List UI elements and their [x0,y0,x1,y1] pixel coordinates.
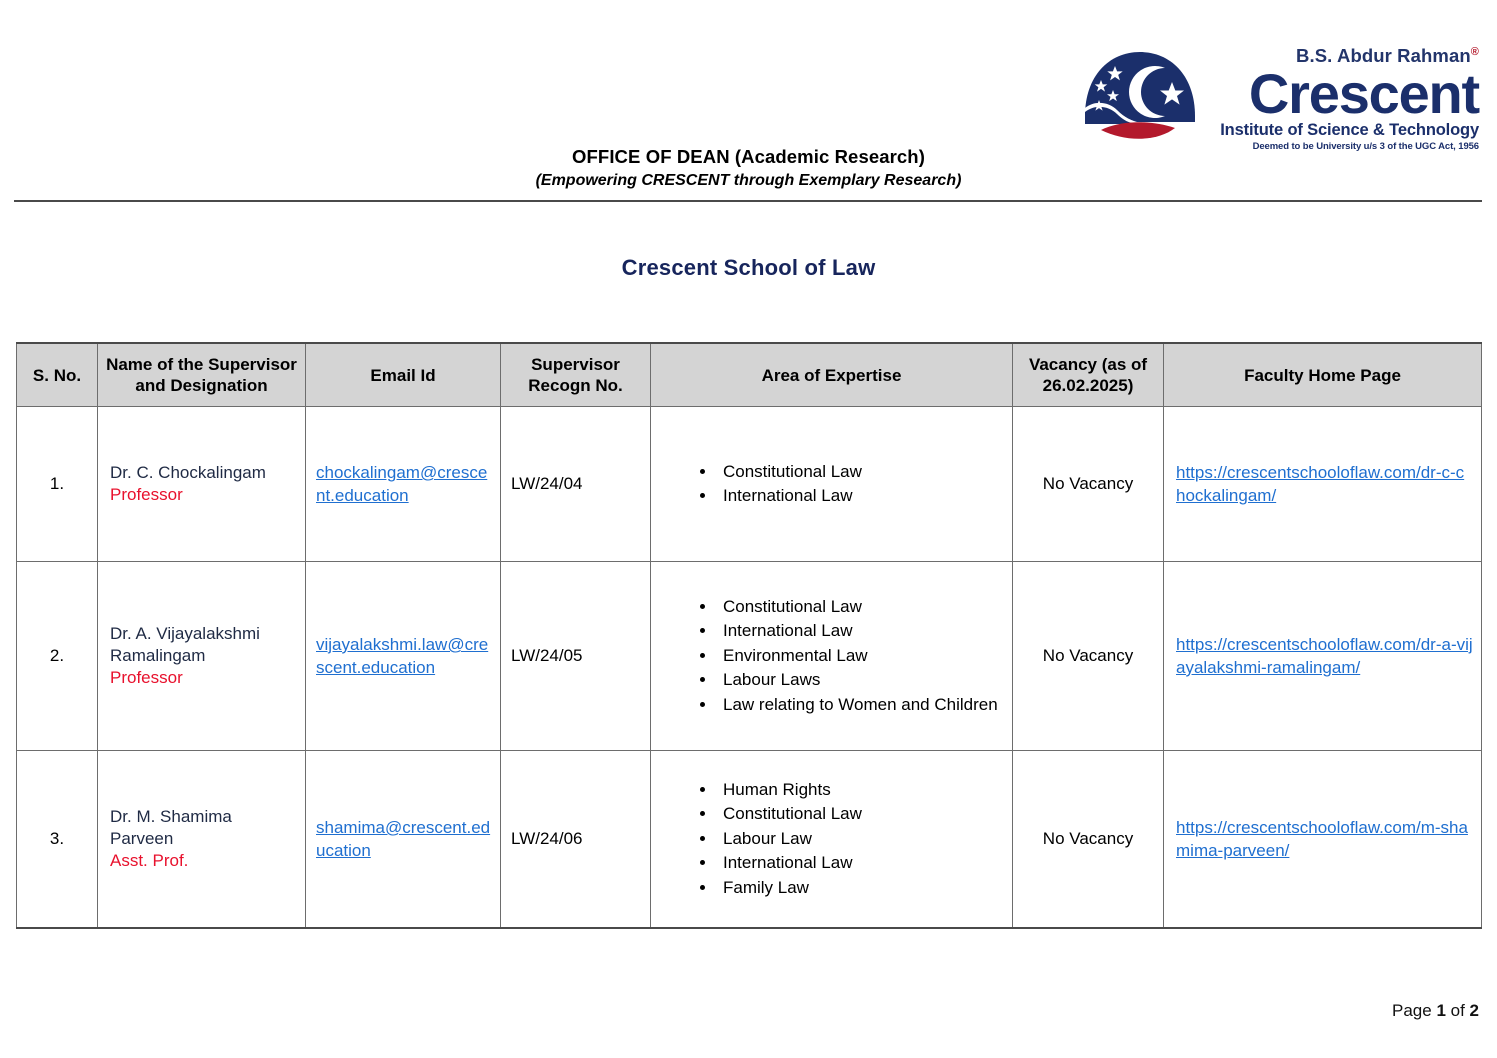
expertise-item: Labour Law [717,827,1004,852]
logo-wordmark: Crescent [1203,68,1479,120]
expertise-item: International Law [717,619,1004,644]
letterhead: B.S. Abdur Rahman® Crescent Institute of… [0,0,1497,208]
expertise-list: Constitutional Law International Law Env… [669,595,1004,718]
row-vacancy-status: No Vacancy [1013,751,1164,929]
crescent-moon-stars-emblem-icon [1079,46,1201,144]
column-header-email: Email Id [306,343,501,407]
logo-brand-top-text: B.S. Abdur Rahman [1296,45,1471,66]
row-serial-number: 2. [17,562,98,751]
office-title: OFFICE OF DEAN (Academic Research) [0,146,1497,168]
row-expertise-cell: Constitutional Law International Law [651,407,1013,562]
logo-brand-top: B.S. Abdur Rahman® [1203,42,1479,66]
row-expertise-cell: Constitutional Law International Law Env… [651,562,1013,751]
registered-mark-icon: ® [1471,46,1479,58]
row-supervisor-name: Dr. M. Shamima Parveen Asst. Prof. [98,751,306,929]
faculty-homepage-link[interactable]: https://crescentschooloflaw.com/m-shamim… [1176,818,1468,860]
expertise-item: International Law [717,484,1004,509]
row-recognition-number: LW/24/05 [501,562,651,751]
faculty-homepage-link[interactable]: https://crescentschooloflaw.com/dr-a-vij… [1176,635,1473,677]
row-homepage-cell: https://crescentschooloflaw.com/m-shamim… [1164,751,1482,929]
table-row: 1. Dr. C. Chockalingam Professor chockal… [17,407,1482,562]
row-supervisor-name: Dr. A. Vijayalakshmi Ramalingam Professo… [98,562,306,751]
footer-total-pages: 2 [1470,1001,1479,1020]
row-vacancy-status: No Vacancy [1013,407,1164,562]
expertise-item: Environmental Law [717,644,1004,669]
supervisor-designation: Asst. Prof. [110,850,297,872]
office-tagline: (Empowering CRESCENT through Exemplary R… [0,172,1497,190]
row-recognition-number: LW/24/04 [501,407,651,562]
logo-wordmark-block: B.S. Abdur Rahman® Crescent Institute of… [1203,42,1479,148]
table-header-row: S. No. Name of the Supervisor and Design… [17,343,1482,407]
column-header-sno: S. No. [17,343,98,407]
email-link[interactable]: vijayalakshmi.law@crescent.education [316,635,488,677]
supervisor-name-text: Dr. M. Shamima Parveen [110,807,232,848]
expertise-item: Constitutional Law [717,595,1004,620]
column-header-homepage: Faculty Home Page [1164,343,1482,407]
email-link[interactable]: shamima@crescent.education [316,818,490,860]
column-header-recogn: Supervisor Recogn No. [501,343,651,407]
institution-logo: B.S. Abdur Rahman® Crescent Institute of… [1079,42,1479,152]
column-header-area: Area of Expertise [651,343,1013,407]
expertise-item: Labour Laws [717,668,1004,693]
row-email-cell: chockalingam@crescent.education [306,407,501,562]
row-email-cell: vijayalakshmi.law@crescent.education [306,562,501,751]
expertise-item: Family Law [717,876,1004,901]
expertise-list: Constitutional Law International Law [669,460,1004,509]
footer-middle: of [1446,1001,1470,1020]
expertise-item: Law relating to Women and Children [717,693,1004,718]
supervisor-designation: Professor [110,484,297,506]
page-footer: Page 1 of 2 [1392,1001,1479,1021]
supervisor-name-text: Dr. A. Vijayalakshmi Ramalingam [110,624,260,665]
expertise-item: Constitutional Law [717,802,1004,827]
column-header-name: Name of the Supervisor and Designation [98,343,306,407]
table-row: 2. Dr. A. Vijayalakshmi Ramalingam Profe… [17,562,1482,751]
expertise-item: Human Rights [717,778,1004,803]
footer-current-page: 1 [1436,1001,1445,1020]
email-link[interactable]: chockalingam@crescent.education [316,463,487,505]
footer-prefix: Page [1392,1001,1436,1020]
row-homepage-cell: https://crescentschooloflaw.com/dr-c-cho… [1164,407,1482,562]
expertise-list: Human Rights Constitutional Law Labour L… [669,778,1004,901]
column-header-vacancy: Vacancy (as of 26.02.2025) [1013,343,1164,407]
row-vacancy-status: No Vacancy [1013,562,1164,751]
supervisor-designation: Professor [110,667,297,689]
row-expertise-cell: Human Rights Constitutional Law Labour L… [651,751,1013,929]
row-serial-number: 1. [17,407,98,562]
header-divider [14,200,1482,202]
expertise-item: Constitutional Law [717,460,1004,485]
row-homepage-cell: https://crescentschooloflaw.com/dr-a-vij… [1164,562,1482,751]
table-row: 3. Dr. M. Shamima Parveen Asst. Prof. sh… [17,751,1482,929]
row-serial-number: 3. [17,751,98,929]
supervisors-table: S. No. Name of the Supervisor and Design… [16,342,1482,929]
supervisor-name-text: Dr. C. Chockalingam [110,463,266,482]
row-recognition-number: LW/24/06 [501,751,651,929]
faculty-homepage-link[interactable]: https://crescentschooloflaw.com/dr-c-cho… [1176,463,1464,505]
page-title: Crescent School of Law [0,255,1497,281]
expertise-item: International Law [717,851,1004,876]
row-email-cell: shamima@crescent.education [306,751,501,929]
logo-subtitle: Institute of Science & Technology [1203,121,1479,139]
row-supervisor-name: Dr. C. Chockalingam Professor [98,407,306,562]
